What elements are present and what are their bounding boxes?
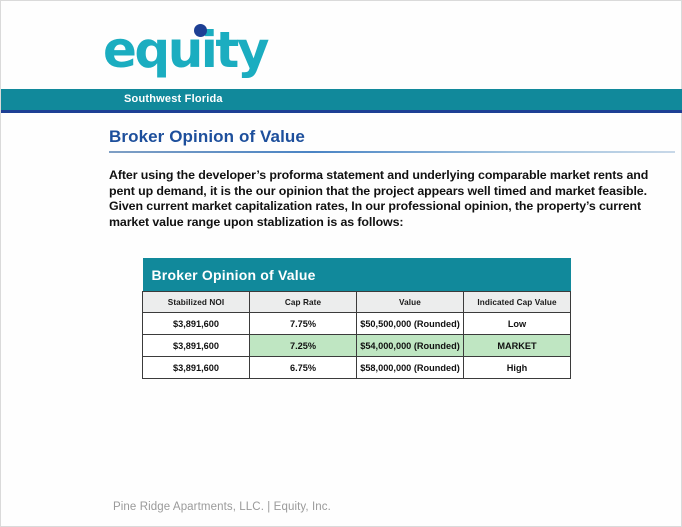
cell-noi: $3,891,600	[143, 313, 250, 335]
cell-value: $54,000,000 (Rounded)	[357, 335, 464, 357]
table-row: $3,891,600 7.75% $50,500,000 (Rounded) L…	[143, 313, 571, 335]
cell-value: $58,000,000 (Rounded)	[357, 357, 464, 379]
table-caption-row: Broker Opinion of Value	[143, 258, 571, 292]
logo-area: equity	[1, 1, 682, 89]
title-divider	[109, 151, 675, 153]
column-header-cap-rate: Cap Rate	[250, 292, 357, 313]
page-footer: Pine Ridge Apartments, LLC. | Equity, In…	[113, 501, 331, 513]
table-row: $3,891,600 6.75% $58,000,000 (Rounded) H…	[143, 357, 571, 379]
column-header-value: Value	[357, 292, 464, 313]
column-header-stabilized-noi: Stabilized NOI	[143, 292, 250, 313]
body-paragraph: After using the developer’s proforma sta…	[109, 168, 649, 230]
cell-indicated: High	[464, 357, 571, 379]
cell-indicated: Low	[464, 313, 571, 335]
logo-wordmark: equity	[103, 21, 267, 79]
cell-noi: $3,891,600	[143, 335, 250, 357]
column-header-indicated-cap-value: Indicated Cap Value	[464, 292, 571, 313]
cell-cap-rate: 6.75%	[250, 357, 357, 379]
table-row: $3,891,600 7.25% $54,000,000 (Rounded) M…	[143, 335, 571, 357]
logo-dot-icon	[194, 24, 207, 37]
cell-noi: $3,891,600	[143, 357, 250, 379]
document-page: equity Southwest Florida Broker Opinion …	[0, 0, 682, 527]
cell-indicated: MARKET	[464, 335, 571, 357]
region-band: Southwest Florida	[1, 89, 682, 113]
region-label: Southwest Florida	[124, 93, 223, 105]
cell-cap-rate: 7.75%	[250, 313, 357, 335]
broker-opinion-table: Broker Opinion of Value Stabilized NOI C…	[142, 258, 571, 379]
page-title: Broker Opinion of Value	[109, 127, 305, 147]
cell-value: $50,500,000 (Rounded)	[357, 313, 464, 335]
table-header-row: Stabilized NOI Cap Rate Value Indicated …	[143, 292, 571, 313]
equity-logo: equity	[103, 23, 267, 77]
cell-cap-rate: 7.25%	[250, 335, 357, 357]
table-caption: Broker Opinion of Value	[143, 258, 571, 292]
